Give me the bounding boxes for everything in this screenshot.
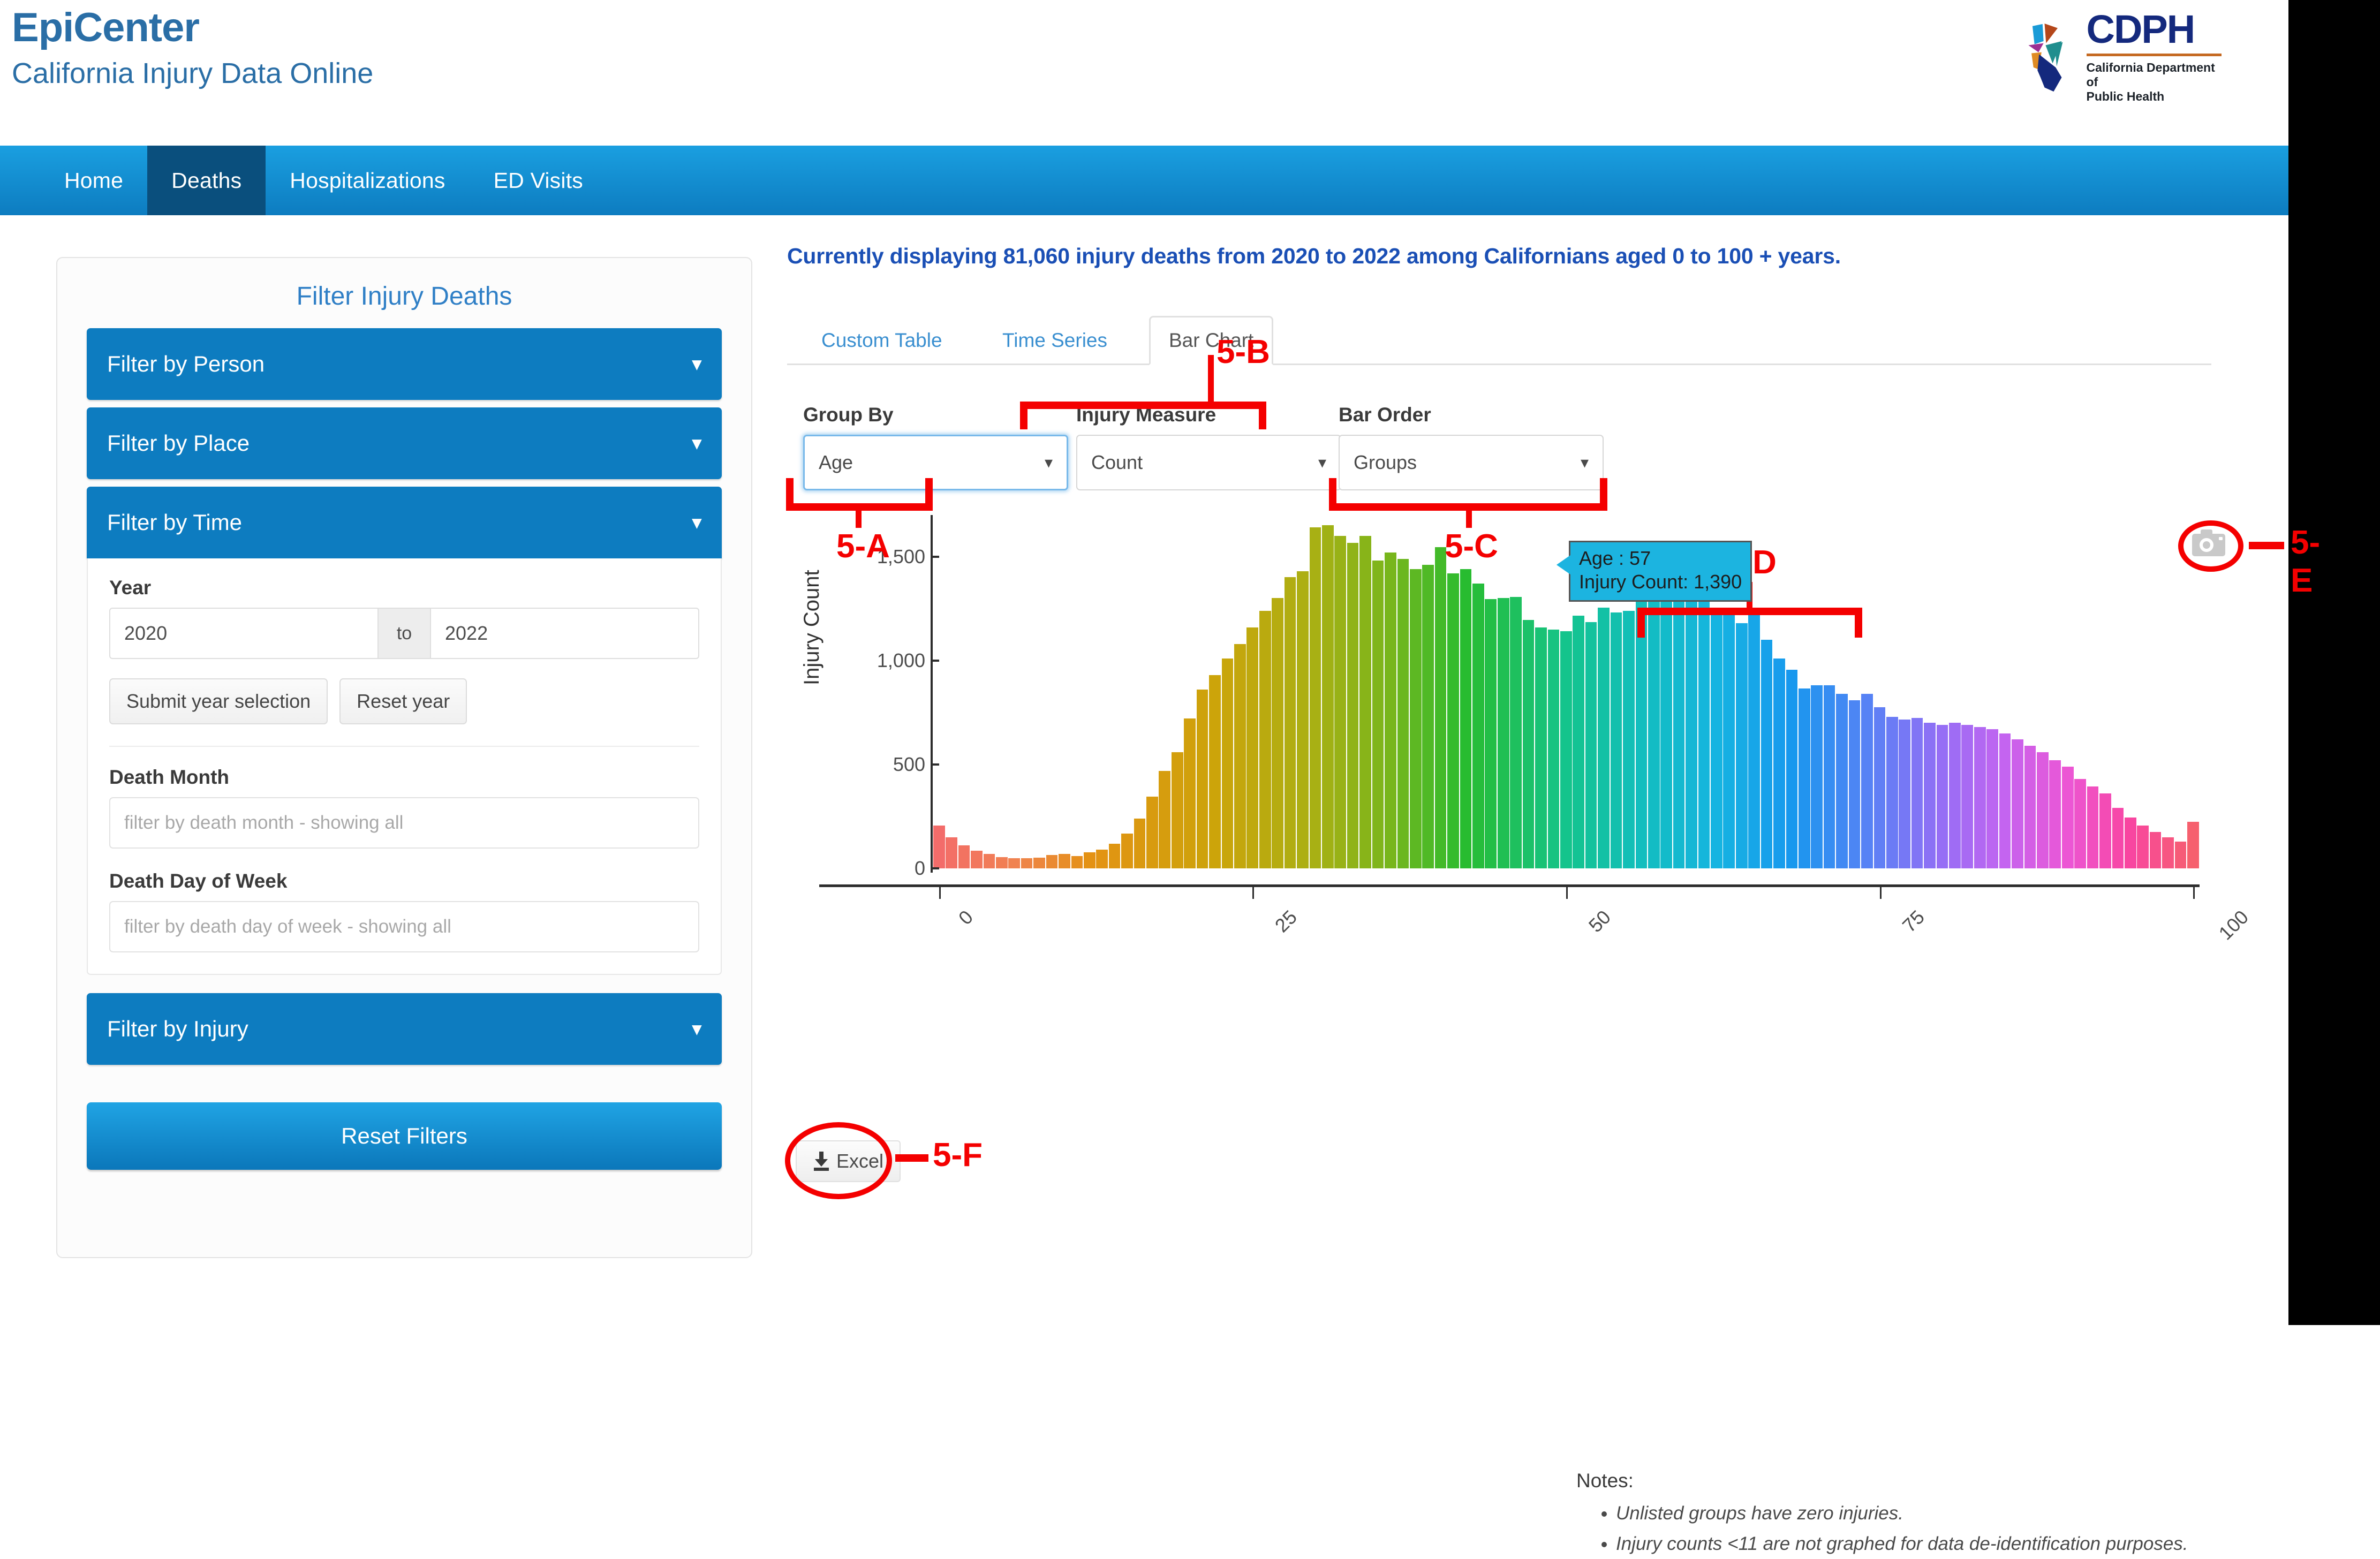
bar[interactable]: [1999, 733, 2011, 868]
bar[interactable]: [1159, 771, 1170, 868]
bar[interactable]: [1585, 622, 1597, 868]
brand-title: EpiCenter: [12, 7, 373, 48]
annotation-5a-label: 5-A: [836, 527, 890, 565]
chevron-down-icon: ▾: [1318, 453, 1326, 472]
annotation-5e-leader: [2249, 542, 2284, 549]
bar[interactable]: [1172, 752, 1183, 868]
bar[interactable]: [1598, 608, 1610, 868]
bar[interactable]: [1836, 694, 1848, 868]
bar[interactable]: [1799, 688, 1810, 868]
chevron-down-icon: ▾: [692, 512, 701, 533]
cdph-rule: [2087, 54, 2222, 56]
bar[interactable]: [1222, 659, 1234, 868]
x-axis-tick-label: 75: [1898, 906, 1929, 937]
bar[interactable]: [2049, 760, 2061, 868]
bar-order-control: Bar Order Groups ▾: [1339, 404, 1604, 490]
y-axis-tick-label: 500: [893, 753, 925, 776]
annotation-5b-stem: [1208, 355, 1214, 404]
annotation-5b-bracket-left: [1020, 402, 1027, 429]
bar[interactable]: [2162, 837, 2174, 868]
bar[interactable]: [1861, 694, 1873, 868]
year-buttons: Submit year selection Reset year: [109, 678, 699, 724]
bar[interactable]: [1886, 717, 1898, 868]
annotation-5a-bracket-left: [786, 478, 794, 506]
bar[interactable]: [1285, 577, 1296, 868]
annotation-5b-label: 5-B: [1217, 333, 1270, 371]
tab-custom-table[interactable]: Custom Table: [803, 317, 961, 364]
bar[interactable]: [1560, 631, 1572, 868]
chevron-down-icon: ▾: [692, 353, 701, 375]
annotation-5f-ellipse: [785, 1122, 892, 1199]
chart-tooltip: Age : 57 Injury Count: 1,390: [1569, 541, 1752, 602]
bar[interactable]: [2024, 746, 2036, 868]
bar[interactable]: [2087, 786, 2099, 868]
bar[interactable]: [1096, 850, 1108, 868]
bar[interactable]: [1498, 598, 1509, 868]
bar[interactable]: [1911, 718, 1923, 868]
sidebar-item-filter-by-injury[interactable]: Filter by Injury ▾: [87, 993, 722, 1065]
annotation-5d-bracket-right: [1855, 608, 1862, 638]
bar[interactable]: [2037, 752, 2049, 868]
reset-filters-button[interactable]: Reset Filters: [87, 1102, 722, 1170]
bar[interactable]: [1297, 571, 1309, 868]
bar[interactable]: [971, 851, 983, 868]
bar[interactable]: [1121, 834, 1133, 868]
bar[interactable]: [2012, 739, 2023, 868]
y-axis-tick-label: 1,000: [877, 649, 925, 672]
death-day-of-week-input[interactable]: filter by death day of week - showing al…: [109, 901, 699, 952]
bar[interactable]: [1259, 611, 1271, 868]
bar[interactable]: [1748, 610, 1760, 868]
death-month-input[interactable]: filter by death month - showing all: [109, 797, 699, 849]
year-range-separator: to: [379, 608, 430, 659]
tooltip-line-1: Age : 57: [1579, 547, 1742, 570]
annotation-5f-leader: [895, 1154, 928, 1162]
bar[interactable]: [1334, 536, 1346, 868]
annotation-5a-bracket-right: [925, 478, 933, 506]
bar[interactable]: [1021, 858, 1033, 868]
chevron-down-icon: ▾: [1045, 453, 1053, 472]
sidebar-item-filter-by-place[interactable]: Filter by Place ▾: [87, 407, 722, 479]
main-nav: Home Deaths Hospitalizations ED Visits: [0, 146, 2288, 215]
year-label: Year: [109, 577, 699, 599]
annotation-5e-ellipse: [2178, 520, 2243, 572]
chevron-down-icon: ▾: [692, 433, 701, 454]
bar[interactable]: [1924, 723, 1936, 868]
injury-measure-value: Count: [1091, 451, 1143, 474]
x-axis-tick-label: 50: [1584, 906, 1615, 937]
annotation-5b-bracket-right: [1259, 402, 1266, 429]
cdph-logo: CDPH California Department of Public Hea…: [2023, 17, 2222, 97]
y-axis-tick-mark: [931, 556, 939, 558]
injury-measure-control: Injury Measure Count ▾: [1076, 404, 1341, 490]
california-map-icon: [2023, 19, 2079, 96]
annotation-5c-bracket-left: [1329, 478, 1336, 506]
bar[interactable]: [1535, 627, 1547, 868]
site-header: EpiCenter California Injury Data Online …: [0, 0, 2288, 146]
bar[interactable]: [2175, 842, 2187, 868]
x-axis-tick-label: 0: [954, 906, 978, 929]
injury-measure-select[interactable]: Count ▾: [1076, 435, 1341, 490]
bar[interactable]: [1523, 620, 1535, 868]
x-axis-tick-mark: [1566, 887, 1568, 899]
x-axis-tick-label: 25: [1271, 906, 1302, 937]
status-line: Currently displaying 81,060 injury death…: [787, 244, 2243, 269]
sidebar-item-filter-by-person[interactable]: Filter by Person ▾: [87, 328, 722, 400]
bar[interactable]: [1246, 627, 1258, 868]
bar[interactable]: [1573, 616, 1584, 868]
annotation-5f-label: 5-F: [933, 1136, 983, 1174]
bar[interactable]: [1698, 592, 1710, 868]
nav-item-ed-visits[interactable]: ED Visits: [470, 146, 607, 215]
group-by-value: Age: [819, 451, 853, 474]
bar[interactable]: [1059, 854, 1070, 868]
bar[interactable]: [1209, 675, 1221, 868]
bar[interactable]: [2150, 832, 2162, 868]
accordion-label: Filter by Place: [107, 430, 250, 456]
bar[interactable]: [1686, 578, 1697, 868]
annotation-5d-bracket-left: [1637, 608, 1645, 638]
tab-time-series[interactable]: Time Series: [984, 317, 1125, 364]
nav-item-deaths[interactable]: Deaths: [147, 146, 266, 215]
accordion-label: Filter by Time: [107, 510, 242, 535]
tab-label: Time Series: [1002, 329, 1107, 351]
bar[interactable]: [1811, 685, 1823, 868]
bar[interactable]: [1372, 561, 1384, 868]
annotation-5b-bracket-top: [1020, 402, 1266, 409]
notes-list: Unlisted groups have zero injuries. Inju…: [1576, 1499, 2188, 1559]
bar[interactable]: [1146, 797, 1158, 868]
brand-subtitle: California Injury Data Online: [12, 59, 373, 88]
bar[interactable]: [1460, 569, 1472, 868]
cdph-wordmark: CDPH California Department of Public Hea…: [2087, 11, 2222, 103]
reset-filters-label: Reset Filters: [341, 1123, 467, 1149]
brand: EpiCenter California Injury Data Online: [12, 7, 373, 88]
filter-by-time-panel: Year 2020 to 2022 Submit year selection …: [87, 558, 722, 975]
bar[interactable]: [1071, 856, 1083, 868]
bar[interactable]: [933, 826, 945, 868]
bar[interactable]: [1197, 690, 1208, 868]
bar[interactable]: [1033, 858, 1045, 868]
nav-item-home[interactable]: Home: [40, 146, 147, 215]
bar[interactable]: [1849, 700, 1861, 868]
accordion-label: Filter by Person: [107, 351, 265, 377]
bar[interactable]: [996, 857, 1008, 868]
bar-order-select[interactable]: Groups ▾: [1339, 435, 1604, 490]
y-axis-tick-mark: [931, 660, 939, 662]
sidebar-title: Filter Injury Deaths: [57, 258, 751, 321]
reset-year-button[interactable]: Reset year: [339, 678, 467, 724]
bar[interactable]: [1660, 590, 1672, 868]
bar[interactable]: [1347, 543, 1359, 868]
y-axis-tick-label: 0: [915, 857, 925, 880]
bar[interactable]: [1485, 599, 1497, 868]
annotation-5e-label: 5-E: [2291, 524, 2320, 600]
bar[interactable]: [1673, 576, 1685, 868]
bar[interactable]: [1711, 615, 1722, 868]
bar[interactable]: [1949, 723, 1961, 868]
bar[interactable]: [2062, 767, 2074, 868]
bar[interactable]: [1937, 725, 1948, 868]
tooltip-line-2: Injury Count: 1,390: [1579, 570, 1742, 594]
bar[interactable]: [2074, 779, 2086, 868]
submit-year-selection-button[interactable]: Submit year selection: [109, 678, 328, 724]
bar[interactable]: [1472, 584, 1484, 868]
bar[interactable]: [2125, 818, 2136, 868]
year-from-input[interactable]: 2020: [109, 608, 379, 659]
bar[interactable]: [1410, 569, 1422, 868]
chart-tabs: Custom Table Time Series Bar Chart: [787, 305, 2243, 365]
bar[interactable]: [1359, 536, 1371, 868]
bar[interactable]: [1548, 630, 1560, 868]
bar[interactable]: [984, 854, 995, 868]
chevron-down-icon: ▾: [1581, 453, 1589, 472]
x-axis-tick-mark: [1252, 887, 1254, 899]
x-axis-tick-label: 100: [2215, 906, 2253, 944]
nav-label: Deaths: [171, 168, 241, 193]
bar[interactable]: [2187, 822, 2199, 868]
page-root: EpiCenter California Injury Data Online …: [0, 0, 2288, 1325]
bar[interactable]: [1234, 644, 1246, 868]
bar[interactable]: [1736, 623, 1748, 868]
x-axis-line: [819, 884, 2200, 887]
tab-label: Custom Table: [821, 329, 942, 351]
nav-item-hospitalizations[interactable]: Hospitalizations: [266, 146, 469, 215]
accordion-label: Filter by Injury: [107, 1016, 248, 1042]
bar[interactable]: [1786, 670, 1798, 868]
bar[interactable]: [1648, 579, 1660, 868]
panel-divider: [109, 746, 699, 747]
notes-title: Notes:: [1576, 1470, 2188, 1492]
bar[interactable]: [1385, 553, 1396, 868]
bar-order-label: Bar Order: [1339, 404, 1604, 426]
sidebar-item-filter-by-time[interactable]: Filter by Time ▾: [87, 487, 722, 558]
y-axis-tick-mark: [931, 763, 939, 766]
annotation-5c-label: 5-C: [1445, 527, 1498, 565]
annotation-5c-stem: [1466, 503, 1472, 528]
bar[interactable]: [946, 837, 957, 868]
bar[interactable]: [1310, 527, 1321, 868]
bar[interactable]: [1974, 727, 1986, 868]
x-axis-tick-mark: [1880, 887, 1882, 899]
right-black-gutter: [2288, 0, 2380, 1325]
bar[interactable]: [1986, 729, 1998, 868]
bar[interactable]: [1134, 819, 1146, 868]
bar[interactable]: [1447, 573, 1459, 868]
filter-sidebar: Filter Injury Deaths Filter by Person ▾ …: [56, 257, 752, 1258]
bar[interactable]: [1623, 611, 1635, 868]
bar[interactable]: [2112, 808, 2124, 868]
chart-controls: Group By Age ▾ Injury Measure Count ▾ Ba…: [787, 404, 2243, 489]
bar[interactable]: [958, 845, 970, 868]
bar[interactable]: [1435, 547, 1447, 868]
bar[interactable]: [1272, 598, 1283, 868]
bar[interactable]: [1611, 612, 1622, 868]
x-axis-tick-mark: [2193, 887, 2195, 899]
chart-notes: Notes: Unlisted groups have zero injurie…: [1576, 1470, 2188, 1559]
year-to-input[interactable]: 2022: [430, 608, 699, 659]
group-by-select[interactable]: Age ▾: [803, 435, 1068, 490]
x-axis-tick-mark: [939, 887, 941, 899]
tabs-underline: [787, 364, 2211, 365]
nav-label: ED Visits: [494, 168, 583, 193]
cdph-letters: CDPH: [2087, 11, 2222, 48]
list-item: Unlisted groups have zero injuries.: [1616, 1499, 2188, 1529]
bar[interactable]: [1773, 659, 1785, 868]
annotation-5c-bracket-right: [1600, 478, 1607, 506]
bar[interactable]: [2099, 793, 2111, 868]
nav-label: Home: [64, 168, 123, 193]
list-item: Injury counts <11 are not graphed for da…: [1616, 1529, 2188, 1559]
nav-label: Hospitalizations: [290, 168, 445, 193]
bar[interactable]: [1510, 597, 1522, 868]
y-axis-tick-mark: [931, 867, 939, 869]
bar[interactable]: [1184, 718, 1196, 868]
chevron-down-icon: ▾: [692, 1018, 701, 1040]
bar[interactable]: [1899, 720, 1910, 868]
bar[interactable]: [1874, 707, 1886, 868]
year-range-row: 2020 to 2022: [109, 608, 699, 659]
death-month-label: Death Month: [109, 766, 699, 789]
cdph-department-line-2: Public Health: [2087, 89, 2222, 104]
bar[interactable]: [1961, 725, 1973, 868]
bar[interactable]: [1397, 559, 1409, 868]
bar[interactable]: [2137, 826, 2149, 868]
bar[interactable]: [1761, 640, 1773, 868]
bar[interactable]: [1046, 855, 1058, 868]
bar-chart: Injury Count 05001,0001,500 0255075100: [787, 515, 2243, 959]
bar[interactable]: [1422, 565, 1434, 868]
bar[interactable]: [1084, 852, 1095, 868]
main-content: Currently displaying 81,060 injury death…: [787, 244, 2243, 959]
y-axis-ticks: 05001,0001,500: [819, 515, 926, 868]
bar[interactable]: [1008, 858, 1020, 868]
group-by-control: Group By Age ▾: [803, 404, 1068, 490]
bar[interactable]: [1322, 525, 1334, 868]
bar-order-value: Groups: [1354, 451, 1417, 474]
bar[interactable]: [1723, 609, 1735, 868]
death-day-of-week-label: Death Day of Week: [109, 870, 699, 892]
bar[interactable]: [1109, 844, 1121, 868]
annotation-5a-stem: [856, 503, 862, 528]
bar[interactable]: [1824, 685, 1835, 868]
cdph-department-line-1: California Department of: [2087, 60, 2222, 89]
